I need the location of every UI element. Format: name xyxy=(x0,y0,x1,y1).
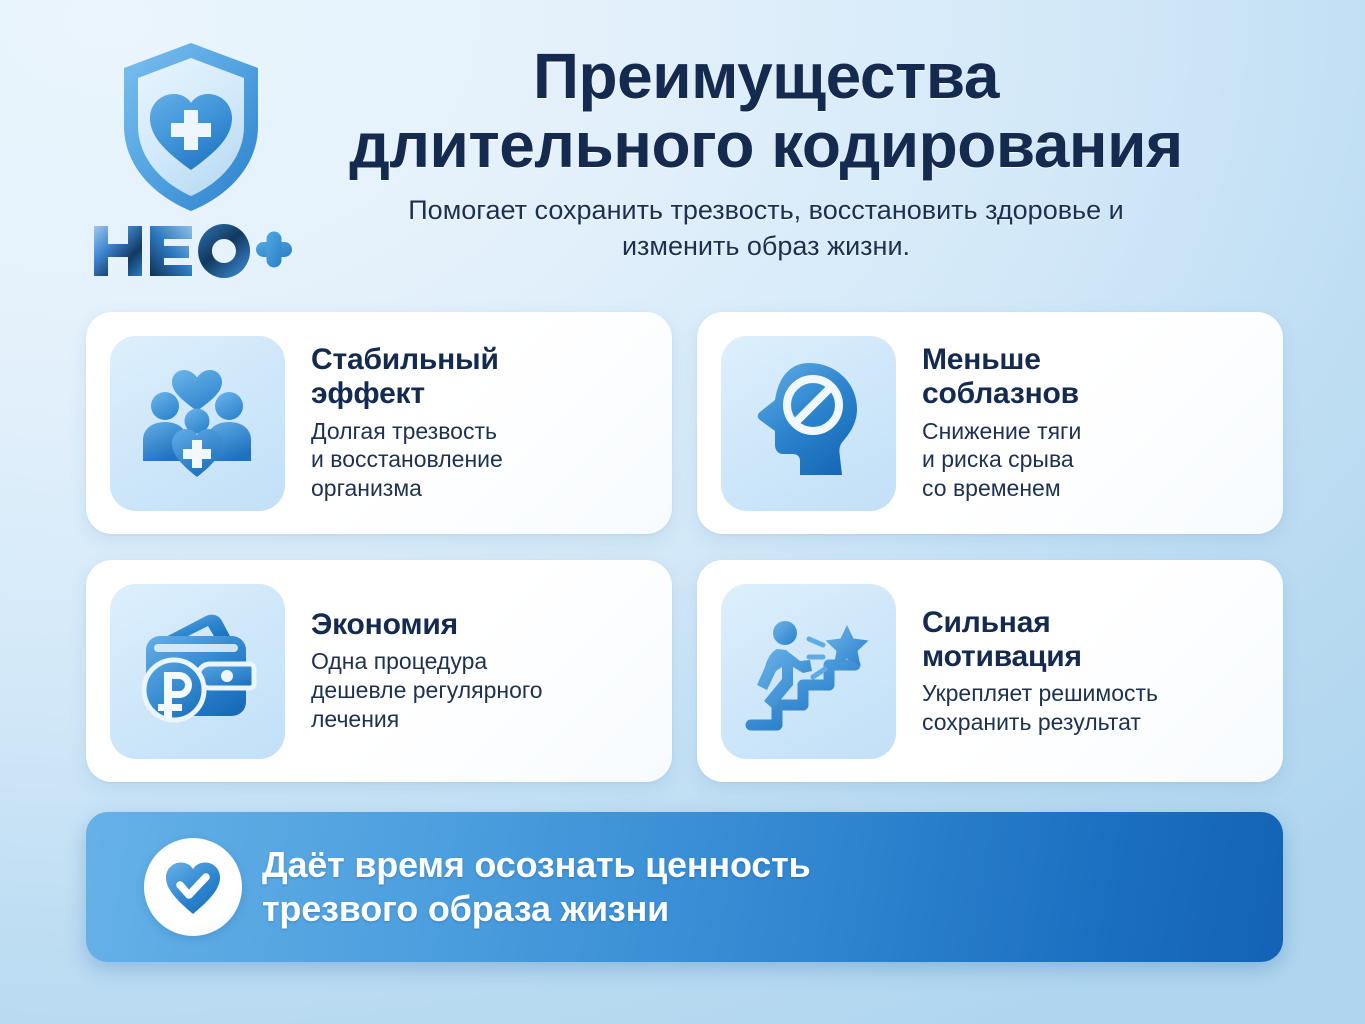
bottom-banner[interactable]: Даёт время осознать ценность трезвого об… xyxy=(86,812,1283,962)
card-description-line-1: Снижение тяги xyxy=(922,417,1261,446)
card-description-line-2: дешевле регулярного xyxy=(311,676,650,705)
card-title: Экономия xyxy=(311,608,650,642)
benefit-card-strong-motivation[interactable]: Сильная мотивация Укрепляет решимость со… xyxy=(697,560,1283,782)
head-prohibition-icon xyxy=(745,357,873,489)
shield-heart-plus-icon xyxy=(116,38,266,216)
card-text: Экономия Одна процедура дешевле регулярн… xyxy=(311,608,650,733)
card-text: Меньше соблазнов Снижение тяги и риска с… xyxy=(922,343,1261,503)
card-description-line-3: лечения xyxy=(311,705,650,734)
wallet-ruble-icon xyxy=(132,608,264,734)
page-subtitle-line-1: Помогает сохранить трезвость, восстанови… xyxy=(408,195,977,225)
person-stairs-star-icon xyxy=(743,607,875,735)
card-title: Стабильный эффект xyxy=(311,343,650,411)
page-title-line-2: длительного кодирования xyxy=(266,111,1266,180)
card-title-line-1: Меньше xyxy=(922,343,1041,376)
card-title-line-2: эффект xyxy=(311,377,650,411)
card-text: Сильная мотивация Укрепляет решимость со… xyxy=(922,606,1261,737)
page-title-line-1: Преимущества xyxy=(533,40,999,112)
card-title-line-2: мотивация xyxy=(922,640,1261,674)
icon-tile xyxy=(721,336,896,511)
card-text: Стабильный эффект Долгая трезвость и вос… xyxy=(311,343,650,503)
brand-wordmark-neo-plus xyxy=(88,220,294,282)
card-description: Укрепляет решимость сохранить результат xyxy=(922,679,1261,737)
icon-tile xyxy=(721,584,896,759)
card-description: Одна процедура дешевле регулярного лечен… xyxy=(311,647,650,733)
poster-header: Преимущества длительного кодирования Пом… xyxy=(0,0,1365,305)
card-description-line-2: и восстановление xyxy=(311,445,650,474)
benefit-card-stable-effect[interactable]: Стабильный эффект Долгая трезвость и вос… xyxy=(86,312,672,534)
icon-tile xyxy=(110,584,285,759)
benefit-card-savings[interactable]: Экономия Одна процедура дешевле регулярн… xyxy=(86,560,672,782)
banner-text-line-2: трезвого образа жизни xyxy=(262,887,810,931)
card-description-line-1: Одна процедура xyxy=(311,647,650,676)
banner-text-line-1: Даёт время осознать ценность xyxy=(262,843,810,887)
card-description-line-3: организма xyxy=(311,474,650,503)
benefit-card-fewer-temptations[interactable]: Меньше соблазнов Снижение тяги и риска с… xyxy=(697,312,1283,534)
card-title: Сильная мотивация xyxy=(922,606,1261,674)
infographic-poster: Преимущества длительного кодирования Пом… xyxy=(0,0,1365,1024)
card-title-line-1: Экономия xyxy=(311,608,458,641)
card-title-line-1: Стабильный xyxy=(311,343,499,376)
card-description-line-1: Укрепляет решимость xyxy=(922,679,1261,708)
benefit-card-grid: Стабильный эффект Долгая трезвость и вос… xyxy=(86,312,1283,782)
card-description-line-2: сохранить результат xyxy=(922,708,1261,737)
card-title-line-2: соблазнов xyxy=(922,377,1261,411)
card-description-line-1: Долгая трезвость xyxy=(311,417,650,446)
card-description: Снижение тяги и риска срыва со временем xyxy=(922,417,1261,503)
icon-tile xyxy=(110,336,285,511)
card-title: Меньше соблазнов xyxy=(922,343,1261,411)
family-heart-plus-icon xyxy=(130,356,265,491)
card-description-line-2: и риска срыва xyxy=(922,445,1261,474)
page-subtitle: Помогает сохранить трезвость, восстанови… xyxy=(386,192,1146,264)
banner-badge xyxy=(144,838,242,936)
heart-check-badge-icon xyxy=(162,858,224,916)
title-block: Преимущества длительного кодирования Пом… xyxy=(266,42,1266,265)
card-description: Долгая трезвость и восстановление органи… xyxy=(311,417,650,503)
card-description-line-3: со временем xyxy=(922,474,1261,503)
page-title: Преимущества длительного кодирования xyxy=(266,42,1266,180)
card-title-line-1: Сильная xyxy=(922,606,1051,639)
banner-text: Даёт время осознать ценность трезвого об… xyxy=(262,843,810,931)
